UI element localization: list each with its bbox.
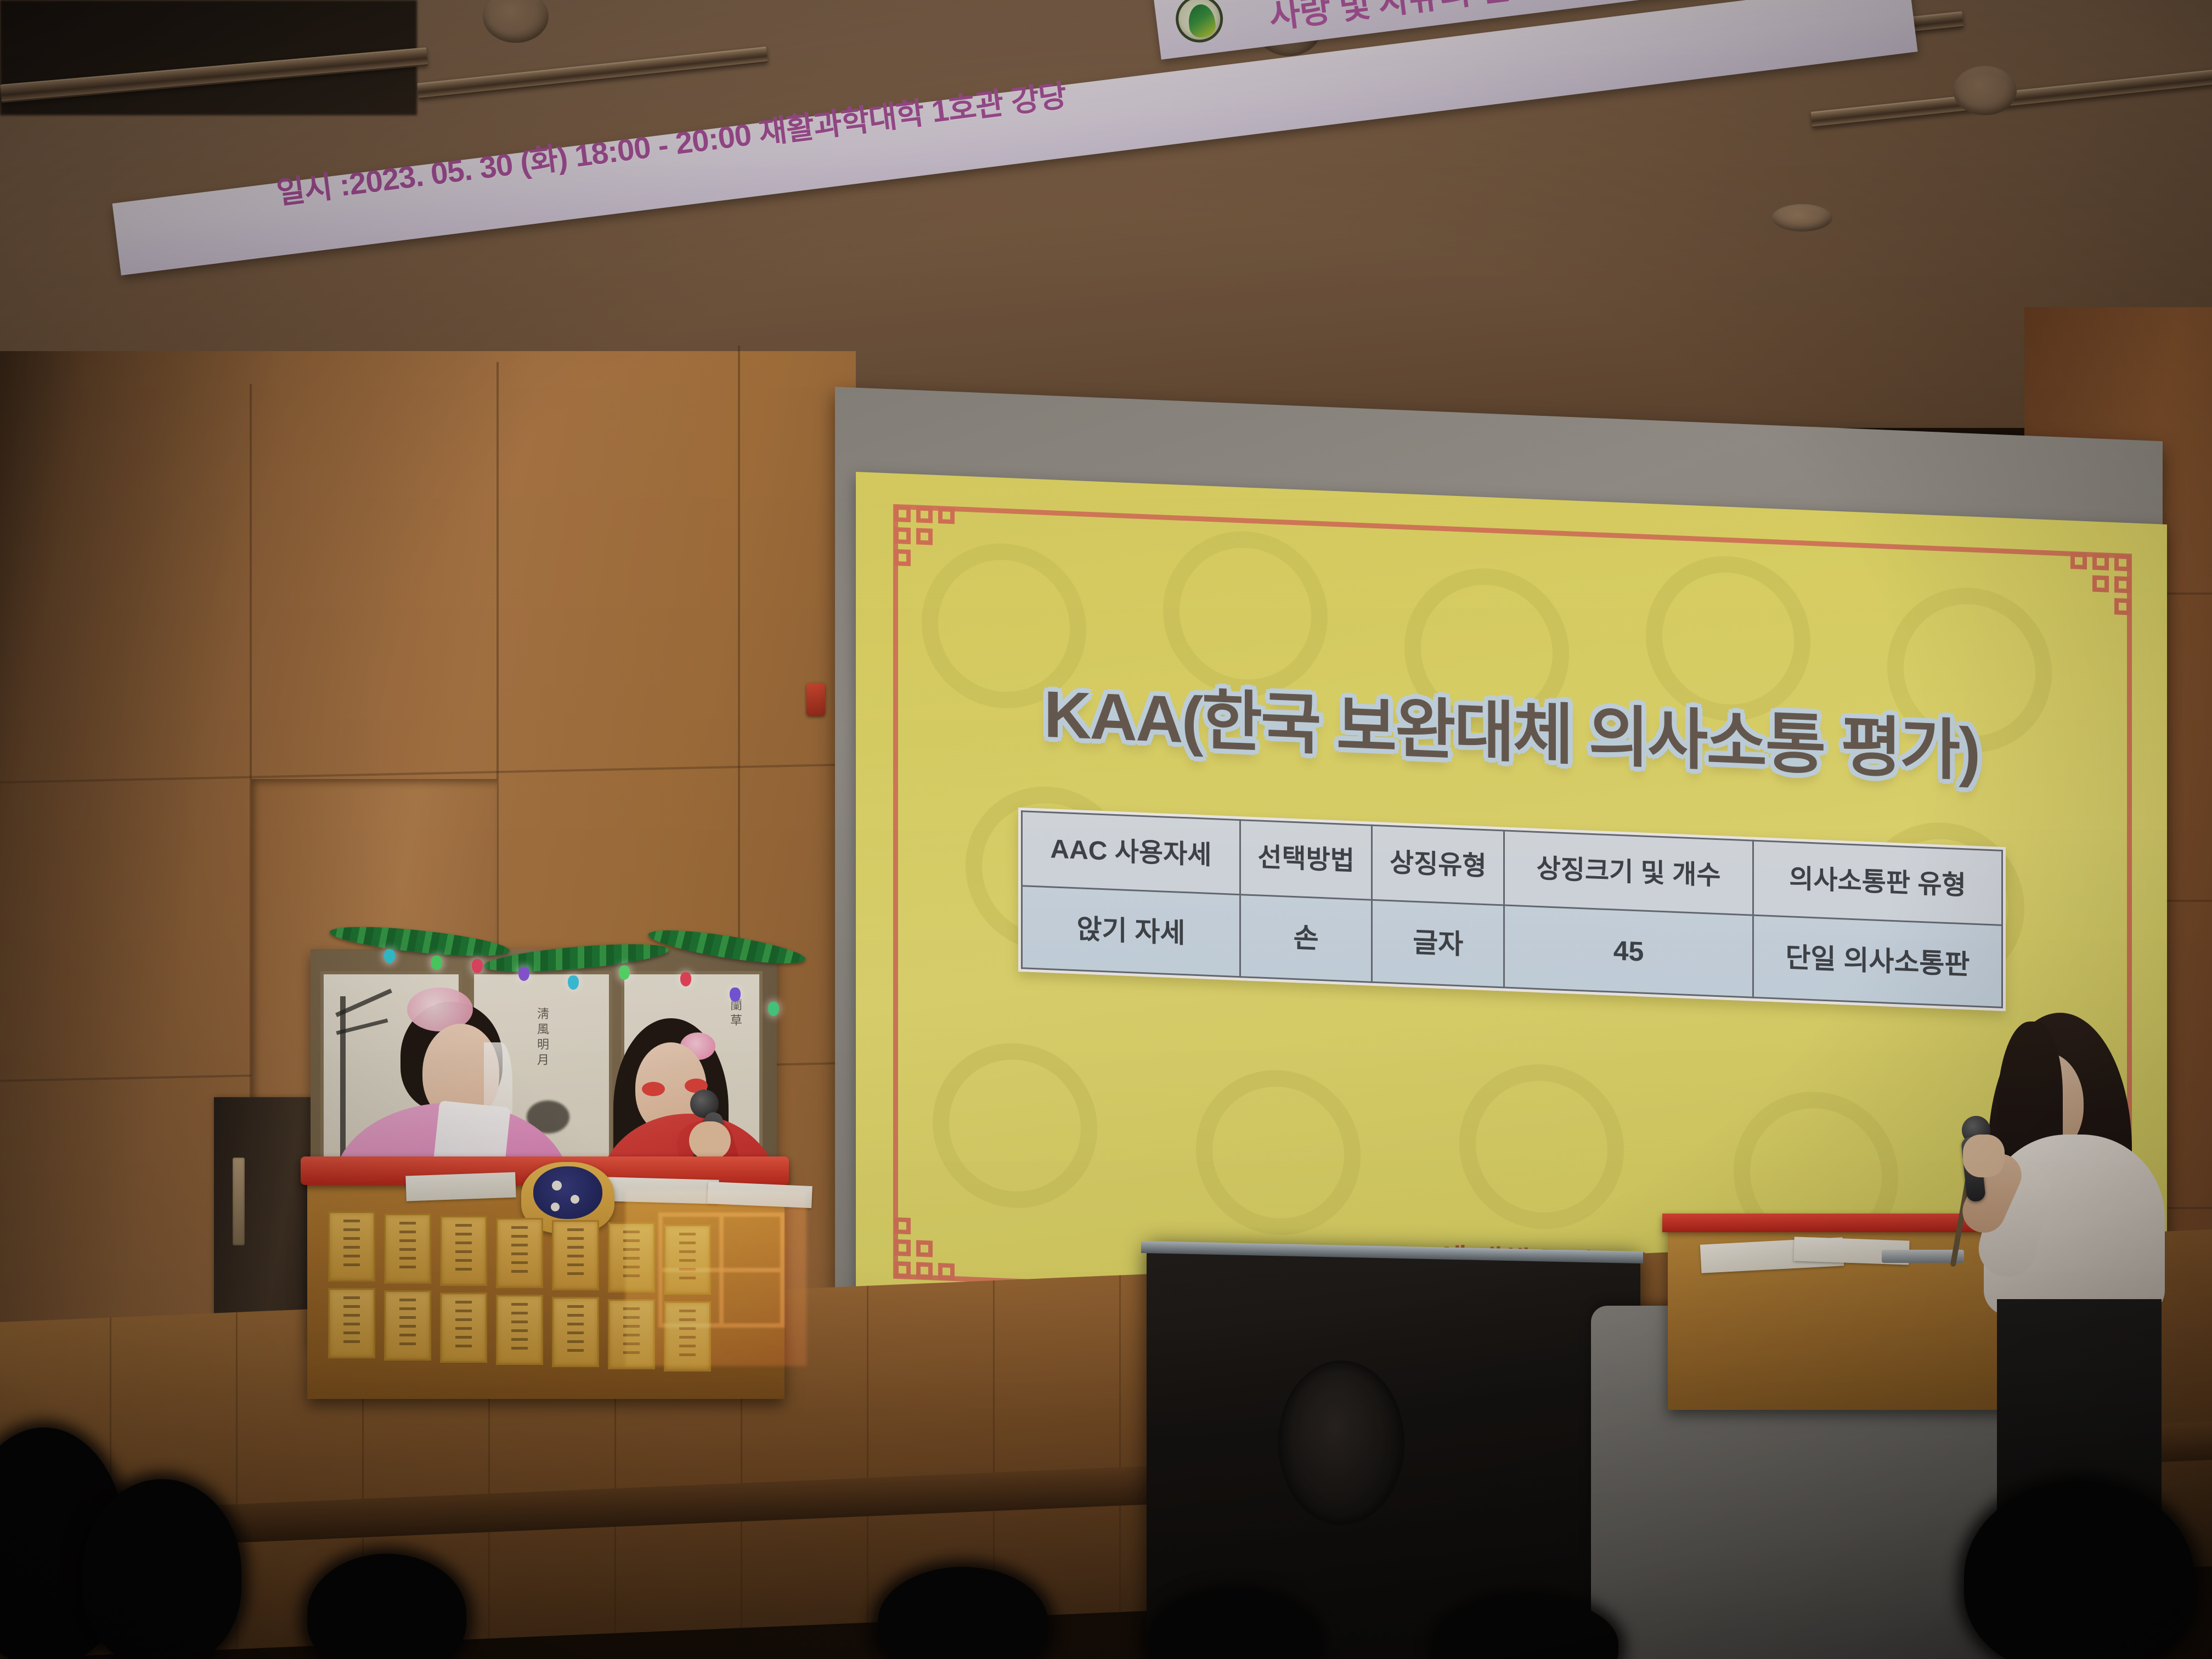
garland-bulb-icon: [384, 949, 395, 963]
bag-dot: [571, 1195, 579, 1204]
column-header-symbol-size-count: 상징크기 및 개수: [1504, 831, 1753, 915]
cell-board-type: 단일 의사소통판: [1753, 915, 2002, 1007]
garland-bulb-icon: [472, 959, 483, 973]
calligraphy-text: 淸風明月: [533, 1007, 551, 1069]
fortune-card: [384, 1214, 431, 1284]
garland-bulb-icon: [518, 967, 529, 981]
column-header-posture: AAC 사용자세: [1022, 811, 1240, 895]
door-handle[interactable]: [233, 1158, 245, 1245]
divination-bag-contents: [533, 1166, 602, 1219]
fortune-card: [440, 1293, 487, 1363]
fortune-card: [328, 1211, 375, 1282]
corner-ornament-top-left: [894, 505, 963, 577]
column-header-selection: 선택방법: [1240, 820, 1372, 900]
cell-symbol-size-count: 45: [1504, 905, 1753, 997]
fortune-card: [328, 1288, 375, 1358]
column-header-symbol-type: 상징유형: [1372, 825, 1504, 905]
fortune-card: [552, 1220, 599, 1290]
speaker-driver-cone: [1278, 1361, 1404, 1525]
ceiling-downlight: [1772, 204, 1832, 232]
fortune-card: [496, 1295, 543, 1365]
fortune-card: [384, 1290, 431, 1361]
calligraphy-text: 蘭草: [726, 998, 744, 1029]
garland-bulb-icon: [680, 972, 691, 986]
fortune-card: [440, 1216, 487, 1286]
cheek-blush-makeup: [642, 1082, 665, 1096]
bag-dot: [552, 1181, 562, 1190]
garland-bulb-icon: [431, 956, 442, 970]
corner-ornament-top-right: [2062, 552, 2131, 624]
garland-bulb-icon: [768, 1002, 779, 1016]
presentation-hall-photo: 일시 :2023. 05. 30 (화) 18:00 - 20:00 재활과학대…: [0, 0, 2212, 1659]
column-header-board-type: 의사소통판 유형: [1753, 840, 2002, 925]
garland-bulb-icon: [568, 975, 579, 990]
ceiling-downlight: [1953, 66, 2017, 115]
cell-posture: 앉기 자세: [1022, 886, 1240, 977]
hand: [689, 1121, 731, 1160]
garland-bulb-icon: [730, 988, 741, 1002]
hand: [1963, 1135, 2005, 1177]
fire-alarm-icon: [806, 683, 825, 716]
bag-dot: [551, 1203, 560, 1211]
cell-symbol-type: 글자: [1372, 900, 1504, 988]
garland-bulb-icon: [619, 966, 630, 980]
cell-selection: 손: [1240, 895, 1372, 983]
paper-sheet: [405, 1172, 516, 1201]
projector-light-spill-grid: [658, 1212, 785, 1328]
audience-head-silhouette: [82, 1479, 241, 1659]
fortune-card: [496, 1218, 543, 1288]
fortune-card: [552, 1297, 599, 1367]
bamboo-ink-painting: [340, 996, 346, 1161]
